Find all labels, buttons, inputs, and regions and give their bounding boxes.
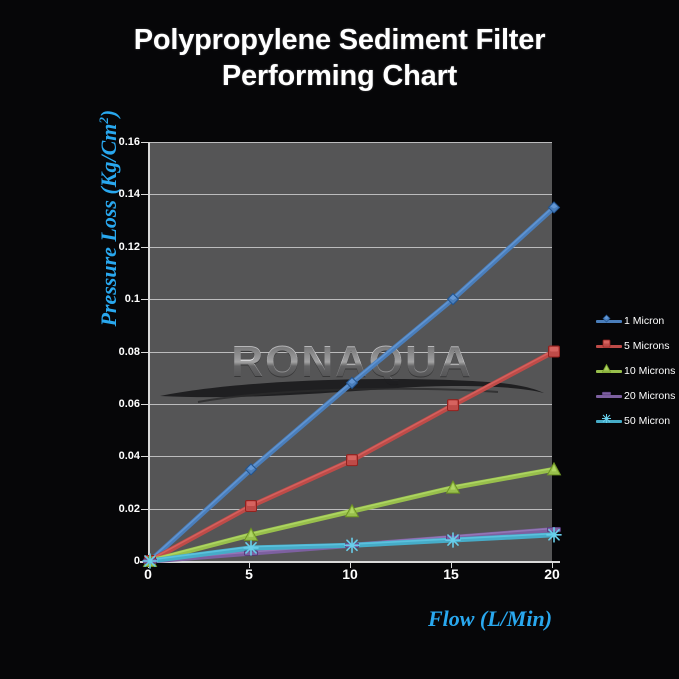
y-tick-label: 0.06 bbox=[94, 398, 140, 410]
x-tick-label: 15 bbox=[431, 566, 471, 582]
legend-swatch-diamond-icon bbox=[596, 314, 622, 328]
legend-marker-dash-icon bbox=[602, 389, 611, 398]
legend-label: 10 Microns bbox=[624, 365, 675, 377]
x-tick-mark bbox=[350, 561, 351, 568]
legend-swatch-triangle-icon bbox=[596, 364, 622, 378]
legend-marker-square-icon bbox=[602, 339, 611, 348]
legend-swatch-dash-icon bbox=[596, 389, 622, 403]
legend-item-20-microns[interactable]: 20 Microns bbox=[596, 383, 678, 408]
data-point-marker bbox=[345, 538, 359, 552]
data-point-marker bbox=[143, 554, 157, 568]
legend-marker bbox=[603, 314, 610, 321]
y-tick-label: 0.02 bbox=[94, 503, 140, 515]
y-tick-mark bbox=[141, 404, 148, 405]
plot-area: RONAQUA bbox=[148, 142, 552, 561]
legend-marker bbox=[602, 364, 610, 372]
x-axis-title: Flow (L/Min) bbox=[350, 606, 630, 632]
legend-marker bbox=[602, 414, 611, 423]
y-tick-mark bbox=[141, 509, 148, 510]
data-point-marker bbox=[549, 346, 560, 357]
y-tick-label: 0.1 bbox=[94, 293, 140, 305]
y-tick-mark bbox=[141, 247, 148, 248]
data-point-marker bbox=[347, 455, 358, 466]
legend-label: 1 Micron bbox=[624, 315, 664, 327]
legend-marker-asterisk-icon bbox=[602, 414, 611, 423]
legend-marker bbox=[602, 392, 610, 395]
legend-label: 5 Microns bbox=[624, 340, 670, 352]
legend-marker-diamond-icon bbox=[602, 314, 611, 323]
y-tick-label: 0.12 bbox=[94, 241, 140, 253]
data-point-marker bbox=[547, 528, 561, 542]
legend-swatch-square-icon bbox=[596, 339, 622, 353]
legend-item-1-micron[interactable]: 1 Micron bbox=[596, 308, 678, 333]
y-tick-mark bbox=[141, 194, 148, 195]
y-axis-title-exponent: 2 bbox=[96, 117, 111, 124]
data-point-marker bbox=[446, 533, 460, 547]
legend-swatch-asterisk-icon bbox=[596, 414, 622, 428]
chart-canvas: Polypropylene Sediment Filter Performing… bbox=[0, 0, 679, 679]
y-tick-label: 0.16 bbox=[94, 136, 140, 148]
legend-marker-triangle-icon bbox=[602, 364, 611, 373]
y-axis-title-paren: ) bbox=[96, 110, 121, 117]
y-tick-label: 0.14 bbox=[94, 188, 140, 200]
chart-legend: 1 Micron5 Microns10 Microns20 Microns50 … bbox=[596, 308, 678, 433]
y-tick-label: 0.08 bbox=[94, 346, 140, 358]
x-tick-mark bbox=[451, 561, 452, 568]
legend-item-10-microns[interactable]: 10 Microns bbox=[596, 358, 678, 383]
y-tick-mark bbox=[141, 456, 148, 457]
chart-title-line-1: Polypropylene Sediment Filter bbox=[0, 22, 679, 58]
data-point-marker bbox=[448, 400, 459, 411]
data-point-marker bbox=[244, 541, 258, 555]
x-tick-label: 10 bbox=[330, 566, 370, 582]
y-tick-mark bbox=[141, 142, 148, 143]
legend-label: 20 Microns bbox=[624, 390, 675, 402]
legend-item-5-microns[interactable]: 5 Microns bbox=[596, 333, 678, 358]
series-layer bbox=[150, 142, 554, 561]
x-tick-mark bbox=[552, 561, 553, 568]
y-tick-label: 0.04 bbox=[94, 450, 140, 462]
y-tick-mark bbox=[141, 299, 148, 300]
x-tick-label: 5 bbox=[229, 566, 269, 582]
y-tick-mark bbox=[141, 352, 148, 353]
y-axis-title: Pressure Loss (Kg/Cm2) bbox=[96, 73, 122, 363]
legend-label: 50 Micron bbox=[624, 415, 670, 427]
x-tick-label: 0 bbox=[128, 566, 168, 582]
x-tick-mark bbox=[249, 561, 250, 568]
legend-item-50-micron[interactable]: 50 Micron bbox=[596, 408, 678, 433]
x-tick-label: 20 bbox=[532, 566, 572, 582]
data-point-marker bbox=[246, 501, 257, 512]
legend-marker bbox=[603, 339, 610, 346]
